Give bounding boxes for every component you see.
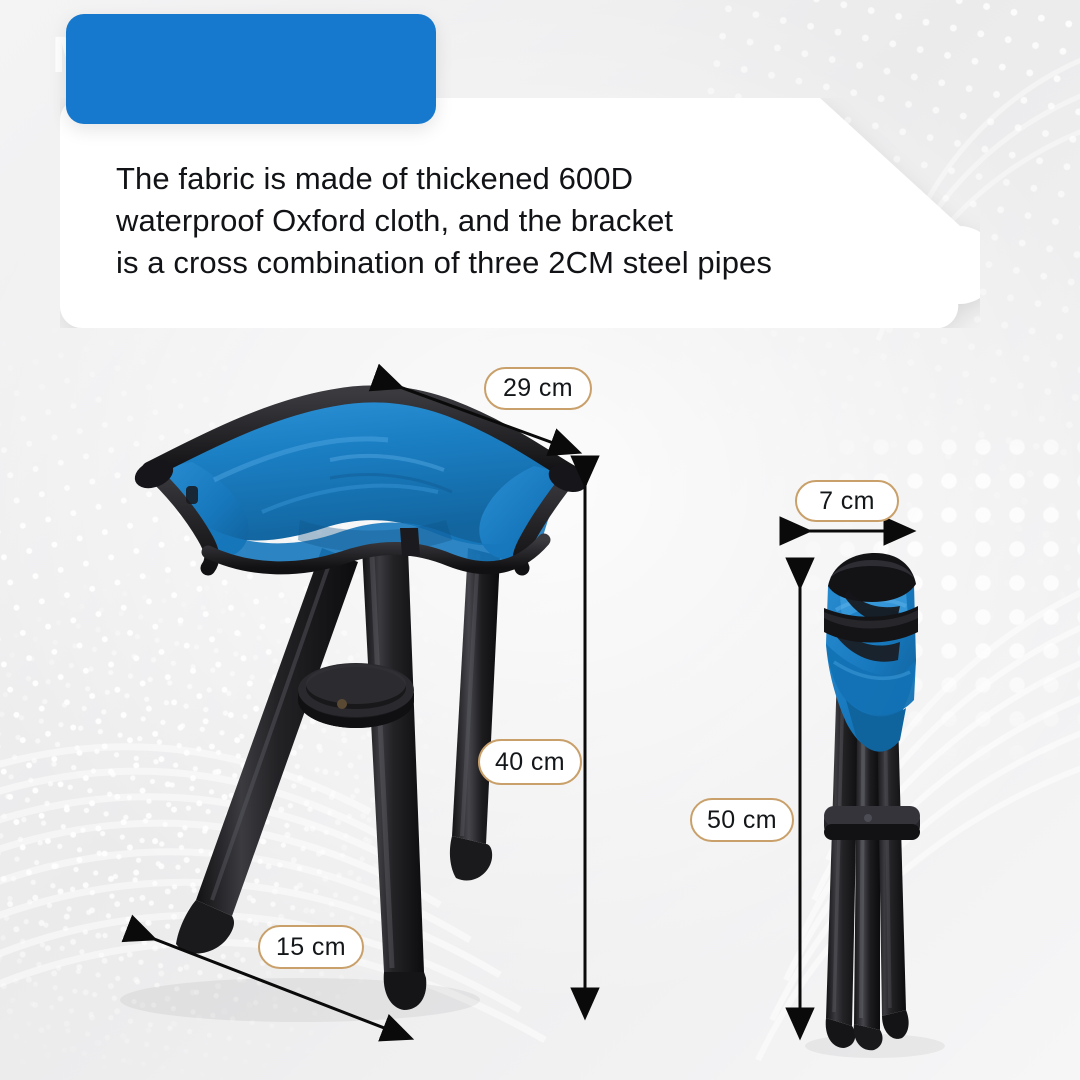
folded-stool-collar [824,806,920,840]
stool-seat-fabric [131,394,592,570]
dimension-label-15cm: 15 cm [258,925,364,969]
stool-leg-back-right [450,548,500,881]
dimension-label-50cm: 50 cm [690,798,794,842]
open-stool-illustration [120,394,591,1022]
product-illustrations [0,0,1080,1080]
dimension-label-7cm: 7 cm [795,480,899,522]
stool-pivot-hub [298,663,414,728]
stool-leg-back-left [176,548,358,954]
folded-stool-illustration [805,553,945,1058]
dimension-label-40cm: 40 cm [478,739,582,785]
infographic-canvas: Material The fabric is made of thickened… [0,0,1080,1080]
stool-leg-front [362,548,426,1010]
dimension-label-29cm: 29 cm [484,367,592,410]
